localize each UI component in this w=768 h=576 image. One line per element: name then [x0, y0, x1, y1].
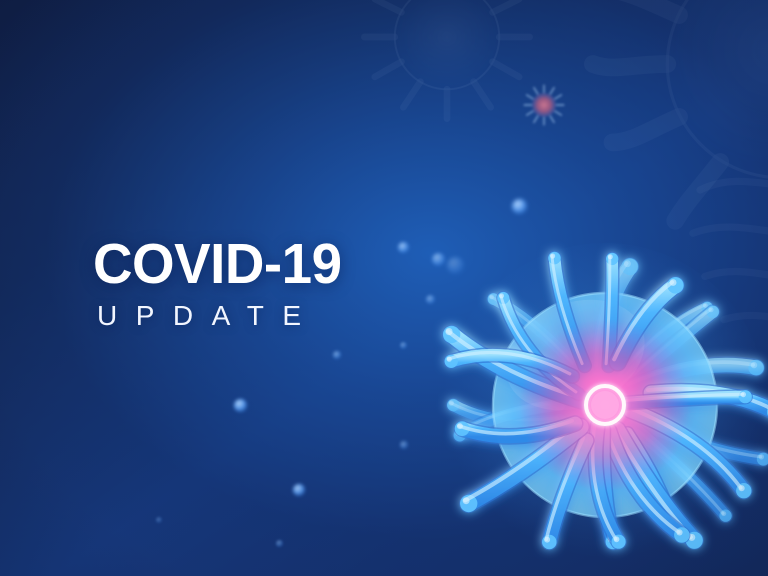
page-subtitle: UPDATE	[97, 302, 453, 330]
virus-spike	[622, 305, 719, 386]
particle-dot	[293, 484, 305, 496]
particle-dot	[234, 399, 247, 412]
virus-spike	[632, 418, 768, 466]
coronavirus-particle	[435, 235, 768, 576]
virus-spike	[460, 424, 581, 512]
virus-spike	[614, 277, 684, 362]
virus-spike	[628, 422, 732, 522]
virus-spike	[454, 403, 560, 442]
virus-spike	[596, 258, 638, 368]
virus-spike	[497, 292, 578, 394]
virus-spike	[487, 293, 575, 366]
virus-spike	[606, 253, 618, 366]
particle-dot	[156, 517, 162, 523]
page-title: COVID-19	[93, 236, 439, 293]
virus-spike	[593, 423, 626, 549]
ghost-virus-right-edge	[688, 118, 768, 358]
virus-spike	[625, 431, 681, 535]
ghost-virus-top-right	[585, 0, 768, 260]
covid-update-banner: COVID-19 UPDATE	[0, 0, 768, 576]
particle-dot	[276, 540, 283, 547]
virus-spike	[648, 389, 768, 420]
virus-spike	[548, 252, 585, 366]
virus-spike	[542, 438, 587, 550]
small-virus-particle	[520, 81, 568, 129]
virus-spike	[600, 427, 621, 550]
particle-dot	[512, 199, 527, 214]
virus-spike	[619, 302, 713, 378]
virus-spike	[447, 399, 560, 422]
virus-spike	[455, 421, 576, 437]
virus-spike	[445, 352, 573, 376]
virus-spike	[628, 408, 752, 499]
particle-dot	[400, 441, 408, 449]
virus-spike	[628, 360, 764, 388]
particle-dot	[400, 342, 407, 349]
virus-spike	[606, 428, 690, 542]
banner-text-block: COVID-19 UPDATE	[93, 236, 453, 330]
virus-spike	[614, 427, 703, 549]
ghost-virus-top	[352, 0, 542, 132]
particle-dot	[333, 351, 341, 359]
virus-spike	[443, 326, 583, 401]
virus-spike	[624, 390, 752, 403]
